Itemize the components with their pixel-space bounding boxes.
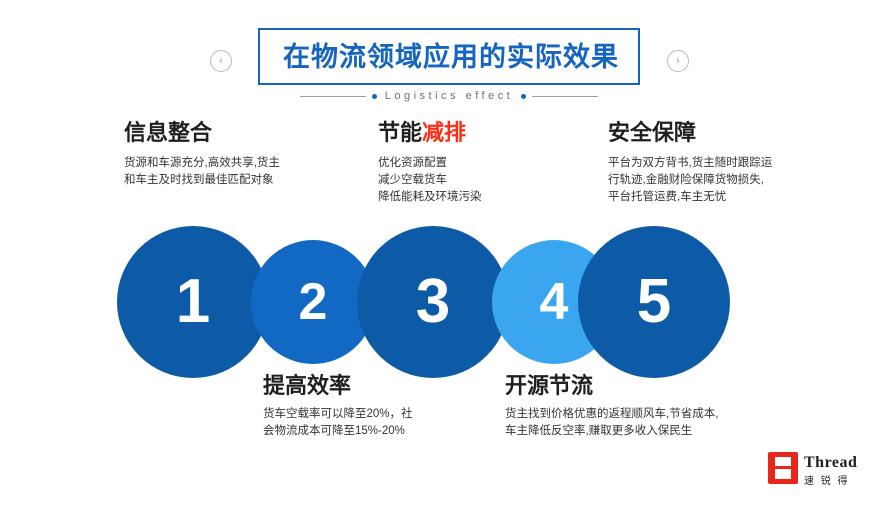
logo: Thread 速 锐 得 bbox=[768, 452, 878, 488]
next-arrow-icon[interactable]: › bbox=[667, 50, 689, 72]
title-frame: 在物流领域应用的实际效果 bbox=[258, 28, 640, 85]
prev-arrow-icon[interactable]: ‹ bbox=[210, 50, 232, 72]
slide-canvas: ‹ › 在物流领域应用的实际效果 Logistics effect 信息整合 货… bbox=[0, 0, 895, 505]
body-item-2: 货车空载率可以降至20%，社 会物流成本可降至15%-20% bbox=[263, 406, 498, 440]
subtitle-dot-left bbox=[372, 94, 377, 99]
logo-mark-icon bbox=[768, 452, 798, 484]
logo-mark-top-shape bbox=[775, 457, 791, 466]
subtitle-dot-right bbox=[521, 94, 526, 99]
subtitle-row: Logistics effect bbox=[258, 86, 640, 106]
logo-mark-bottom-shape bbox=[775, 469, 791, 479]
circle-item-5-number: 5 bbox=[578, 226, 730, 378]
page-subtitle: Logistics effect bbox=[383, 90, 516, 102]
heading-item-4: 开源节流 bbox=[505, 368, 593, 400]
circle-item-3[interactable]: 3 bbox=[357, 226, 509, 378]
body-item-5: 平台为双方背书,货主随时跟踪运 行轨迹,金融财险保障货物损失, 平台托管运费,车… bbox=[608, 155, 868, 206]
heading-item-5-text: 安全保障 bbox=[608, 120, 696, 145]
page-title: 在物流领域应用的实际效果 bbox=[260, 30, 642, 87]
heading-item-4-text: 开源节流 bbox=[505, 373, 593, 398]
heading-item-2-text: 提高效率 bbox=[263, 373, 351, 398]
body-item-1: 货源和车源充分,高效共享,货主 和车主及时找到最佳匹配对象 bbox=[124, 155, 374, 189]
logo-text-english: Thread bbox=[804, 454, 857, 472]
circle-item-3-number: 3 bbox=[357, 226, 509, 378]
heading-item-3-text: 节能 bbox=[378, 120, 422, 145]
heading-item-3: 节能减排 bbox=[378, 115, 466, 147]
body-item-4: 货主找到价格优惠的返程顺风车,节省成本, 车主降低反空率,赚取更多收入保民生 bbox=[505, 406, 835, 440]
body-item-3: 优化资源配置 减少空载货车 降低能耗及环境污染 bbox=[378, 155, 608, 206]
circle-item-1[interactable]: 1 bbox=[117, 226, 269, 378]
subtitle-line-left bbox=[300, 96, 366, 97]
circle-item-1-number: 1 bbox=[117, 226, 269, 378]
heading-item-2: 提高效率 bbox=[263, 368, 351, 400]
heading-item-3-highlight: 减排 bbox=[422, 120, 466, 145]
circle-item-5[interactable]: 5 bbox=[578, 226, 730, 378]
heading-item-1: 信息整合 bbox=[124, 115, 212, 147]
logo-text-chinese: 速 锐 得 bbox=[804, 472, 850, 487]
subtitle-line-right bbox=[532, 96, 598, 97]
heading-item-1-text: 信息整合 bbox=[124, 120, 212, 145]
heading-item-5: 安全保障 bbox=[608, 115, 696, 147]
